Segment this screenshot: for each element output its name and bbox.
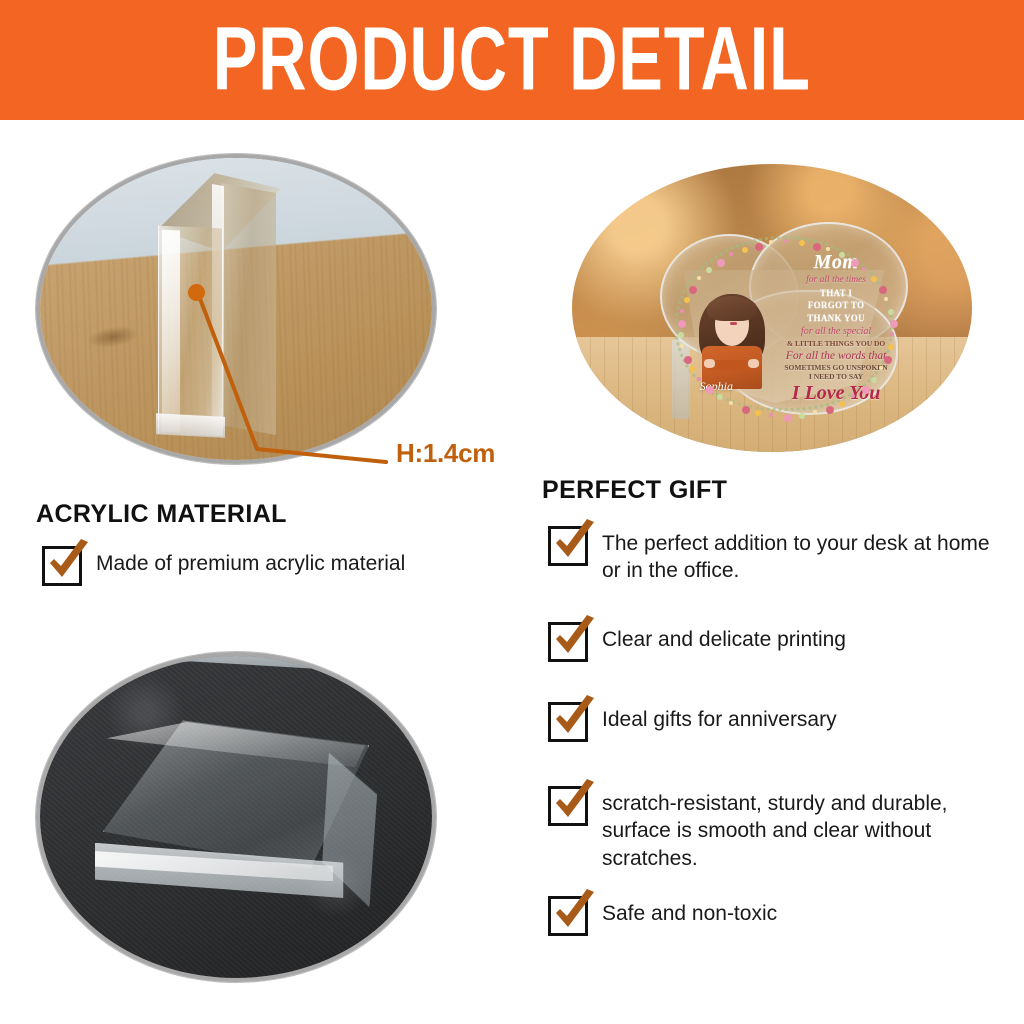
checkbox-checked[interactable] xyxy=(548,896,588,936)
checkbox-checked[interactable] xyxy=(548,786,588,826)
checkbox-checked[interactable] xyxy=(548,622,588,662)
heart-acrylic-plaque-photo: Mom for all the times THAT I FORGOT TO T… xyxy=(572,164,972,452)
plaque-line-script2: for all the special xyxy=(769,327,903,338)
flower-petal xyxy=(717,259,725,267)
feature-item: Clear and delicate printing xyxy=(548,622,998,662)
acrylic-block-on-slate-photo xyxy=(36,652,436,982)
flower-petal xyxy=(678,332,684,338)
check-icon xyxy=(547,776,601,830)
feature-label: Ideal gifts for anniversary xyxy=(602,702,837,733)
section-heading-acrylic-material: ACRYLIC MATERIAL xyxy=(36,500,287,529)
plaque-line-caps3: THANK YOU xyxy=(769,314,903,324)
plaque-line-caps4: & LITTLE THINGS YOU DO xyxy=(769,340,903,348)
plaque-line-script1: for all the times xyxy=(769,275,903,285)
character-illustration xyxy=(695,290,769,387)
plaque-line-love: I Love You xyxy=(769,383,903,405)
flower-petal xyxy=(879,286,887,294)
flower-petal xyxy=(799,240,805,246)
acrylic-slab-side xyxy=(221,183,276,434)
flower-petal xyxy=(706,267,712,273)
flower-petal xyxy=(862,386,870,394)
flower-petal xyxy=(862,267,866,271)
plaque-line-script3: For all the words that xyxy=(769,350,903,362)
page-title: PRODUCT DETAIL xyxy=(213,15,811,105)
feature-label: Made of premium acrylic material xyxy=(96,546,405,577)
flower-petal xyxy=(769,413,773,417)
acrylic-slab-base xyxy=(156,413,225,438)
flower-petal xyxy=(784,414,792,422)
check-icon xyxy=(547,886,601,940)
product-detail-page: PRODUCT DETAIL xyxy=(0,0,1024,1024)
feature-label: The perfect addition to your desk at hom… xyxy=(602,526,998,585)
acrylic-slab-gloss xyxy=(162,230,180,433)
flower-petal xyxy=(706,386,714,394)
plaque-title: Mom xyxy=(769,252,903,274)
plaque-text-block: Mom for all the times THAT I FORGOT TO T… xyxy=(769,252,903,405)
flower-petal xyxy=(729,252,733,256)
flower-petal xyxy=(742,406,750,414)
feature-item: scratch-resistant, sturdy and durable, s… xyxy=(548,786,998,872)
flower-petal xyxy=(684,356,692,364)
feature-item: Made of premium acrylic material xyxy=(42,546,502,586)
check-icon xyxy=(547,692,601,746)
flower-petal xyxy=(755,410,761,416)
flower-petal xyxy=(871,377,877,383)
flower-petal xyxy=(799,413,805,419)
flower-petal xyxy=(680,309,684,313)
dimension-height-label: H:1.4cm xyxy=(396,438,495,469)
header-banner: PRODUCT DETAIL xyxy=(0,0,1024,120)
character-hand-left xyxy=(704,359,715,368)
feature-label: Safe and non-toxic xyxy=(602,896,777,927)
flower-petal xyxy=(826,406,834,414)
feature-label: scratch-resistant, sturdy and durable, s… xyxy=(602,786,998,872)
flower-petal xyxy=(742,247,748,253)
acrylic-edge-on-wood-photo xyxy=(36,154,436,464)
flower-petal xyxy=(755,243,763,251)
flower-petal xyxy=(729,401,733,405)
section-heading-perfect-gift: PERFECT GIFT xyxy=(542,476,727,505)
feature-item: The perfect addition to your desk at hom… xyxy=(548,526,998,585)
plaque-personalized-name: Sophia xyxy=(700,379,733,394)
character-hand-right xyxy=(748,359,759,368)
checkbox-checked[interactable] xyxy=(548,702,588,742)
flower-petal xyxy=(717,394,723,400)
flower-petal xyxy=(680,344,684,348)
heart-plaque: Mom for all the times THAT I FORGOT TO T… xyxy=(660,222,908,424)
feature-item: Ideal gifts for anniversary xyxy=(548,702,998,742)
checkbox-checked[interactable] xyxy=(548,526,588,566)
plaque-line-caps6: I NEED TO SAY xyxy=(769,373,903,381)
feature-item: Safe and non-toxic xyxy=(548,896,998,936)
flower-petal xyxy=(697,377,701,381)
character-hair-front xyxy=(707,296,758,321)
check-icon xyxy=(41,536,95,590)
feature-label: Clear and delicate printing xyxy=(602,622,846,653)
character-lips xyxy=(730,322,737,325)
plaque-line-caps5: SOMETIMES GO UNSPOKEN xyxy=(769,364,903,372)
plaque-line-caps2: FORGOT TO xyxy=(769,301,903,311)
dimension-callout-dot xyxy=(188,284,205,301)
check-icon xyxy=(547,516,601,570)
check-icon xyxy=(547,612,601,666)
checkbox-checked[interactable] xyxy=(42,546,82,586)
flower-petal xyxy=(813,243,821,251)
flower-petal xyxy=(684,297,690,303)
